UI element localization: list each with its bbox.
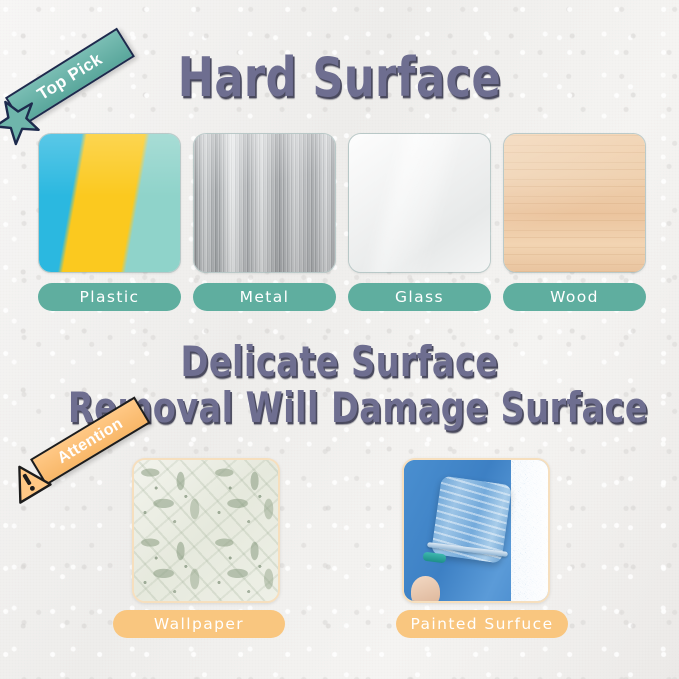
wallpaper-photo-image [134, 460, 278, 601]
label-plastic: Plastic [38, 283, 181, 311]
hand-icon [411, 576, 440, 603]
label-glass: Glass [348, 283, 491, 311]
wallpaper-photo-card[interactable] [132, 458, 280, 603]
plastic-swatch-image [39, 134, 180, 272]
paint-roller-grip [422, 552, 446, 564]
label-metal: Metal [193, 283, 336, 311]
hard-surface-label-row: Plastic Metal Glass Wood [38, 283, 646, 311]
metal-swatch-image [194, 134, 335, 272]
plastic-swatch-card[interactable] [38, 133, 181, 273]
painted-surface-photo-image [404, 460, 548, 601]
hard-surface-title: Hard Surface [68, 51, 611, 105]
wood-swatch-image [504, 134, 645, 272]
label-wallpaper: Wallpaper [113, 610, 285, 638]
glass-swatch-image [349, 134, 490, 272]
metal-swatch-card[interactable] [193, 133, 336, 273]
delicate-surface-photo-grid [132, 458, 550, 603]
delicate-surface-title-line1: Delicate Surface [68, 341, 611, 383]
paint-texture-strip [511, 460, 548, 601]
glass-swatch-card[interactable] [348, 133, 491, 273]
wood-swatch-card[interactable] [503, 133, 646, 273]
label-wood: Wood [503, 283, 646, 311]
painted-surface-photo-card[interactable] [402, 458, 550, 603]
delicate-surface-label-row: Wallpaper Painted Surfuce [113, 610, 568, 638]
hard-surface-swatch-grid [38, 133, 646, 273]
label-painted-surface: Painted Surfuce [396, 610, 568, 638]
